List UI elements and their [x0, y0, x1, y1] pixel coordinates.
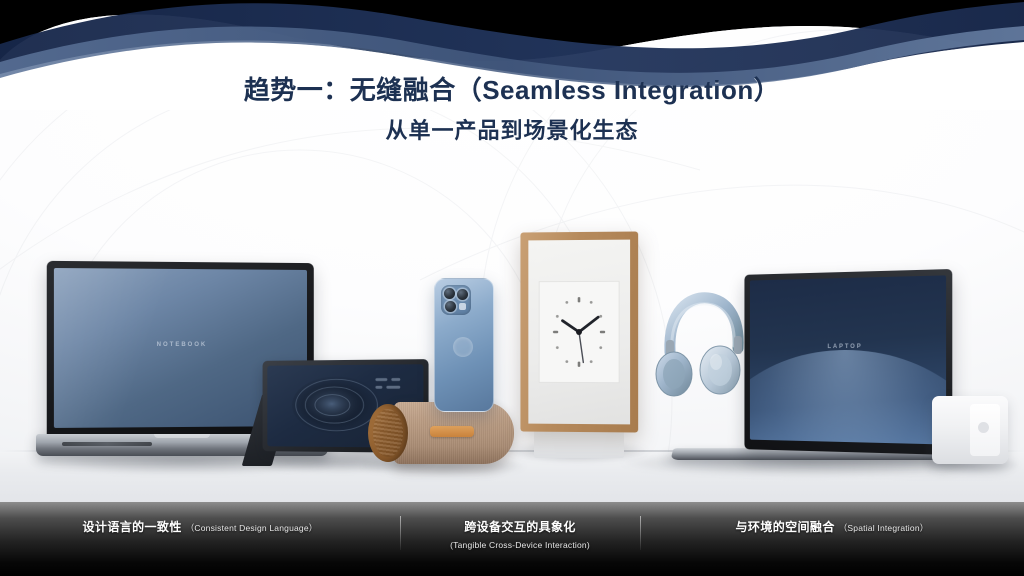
laptop-left-trackpad-notch [154, 434, 210, 438]
slide-root: 趋势一：无缝融合（Seamless Integration） 从单一产品到场景化… [0, 0, 1024, 576]
phone-body [434, 278, 494, 412]
caption-en-3: （Spatial Integration） [839, 522, 929, 534]
caption-bar: 设计语言的一致性 （Consistent Design Language） 跨设… [0, 502, 1024, 576]
caption-divider-1 [400, 516, 401, 550]
page-title: 趋势一：无缝融合（Seamless Integration） [0, 74, 1024, 107]
laptop-left-ports [62, 442, 152, 446]
caption-item-design-language: 设计语言的一致性 （Consistent Design Language） [0, 502, 400, 576]
camera-flash-icon [459, 303, 466, 310]
laptop-right-screen: LAPTOP [750, 275, 946, 444]
clock-mat [528, 240, 630, 425]
smart-speaker-indicator-icon [978, 422, 989, 433]
caption-en-1: （Consistent Design Language） [186, 522, 318, 534]
clock-wood-frame [520, 231, 638, 432]
title-block: 趋势一：无缝融合（Seamless Integration） 从单一产品到场景化… [0, 74, 1024, 144]
product-smartphone [434, 278, 494, 412]
product-wall-clock-frame [520, 232, 638, 432]
laptop-right-lid: LAPTOP [744, 269, 952, 455]
camera-lens-icon [457, 289, 468, 300]
laptop-left-screen-label: NOTEBOOK [54, 342, 307, 348]
phone-nfc-ring [453, 337, 473, 357]
phone-camera-module [441, 285, 471, 315]
caption-inline-1: 设计语言的一致性 （Consistent Design Language） [83, 518, 318, 535]
caption-zh-1: 设计语言的一致性 [83, 518, 182, 535]
caption-item-cross-device: 跨设备交互的具象化 (Tangible Cross-Device Interac… [400, 502, 640, 576]
clock-face-icon [535, 278, 623, 386]
caption-zh-2: 跨设备交互的具象化 [464, 518, 576, 535]
camera-lens-icon [444, 288, 455, 299]
caption-en-2: (Tangible Cross-Device Interaction) [450, 540, 590, 550]
caption-item-spatial-integration: 与环境的空间融合 （Spatial Integration） [640, 502, 1024, 576]
speaker-leather-strap [430, 426, 474, 437]
laptop-right-screen-label: LAPTOP [750, 343, 946, 350]
caption-row: 设计语言的一致性 （Consistent Design Language） 跨设… [0, 502, 1024, 576]
camera-lens-icon [445, 301, 456, 312]
caption-zh-3: 与环境的空间融合 [736, 518, 835, 535]
caption-divider-2 [640, 516, 641, 550]
product-laptop-right: LAPTOP [716, 272, 966, 472]
caption-inline-3: 与环境的空间融合 （Spatial Integration） [736, 518, 929, 535]
product-smart-speaker [932, 396, 1008, 464]
laptop-right-wallpaper-arc [750, 350, 946, 445]
speaker-wood-end-cap [368, 404, 408, 462]
page-subtitle: 从单一产品到场景化生态 [0, 117, 1024, 145]
